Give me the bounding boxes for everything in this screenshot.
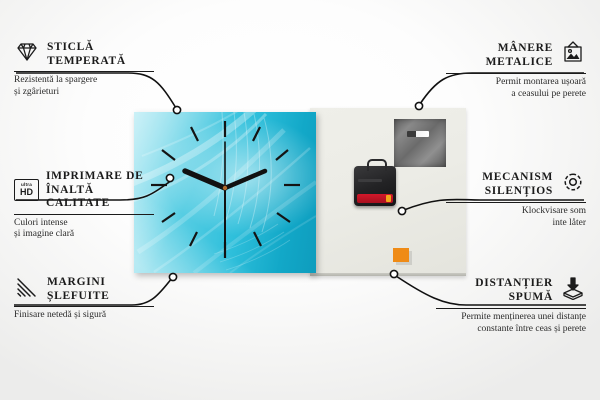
title-rule	[436, 308, 586, 309]
mechanism-loop	[367, 159, 387, 171]
feature-subtitle-line1: Klockvisare som	[522, 206, 586, 216]
feature-mecanism-silentios[interactable]: MECANISM SILENȚIOS Klockvisare som inte …	[446, 170, 586, 229]
feature-subtitle-line2: inte låter	[553, 218, 587, 228]
feature-manere-metalice[interactable]: MÂNERE METALICE Permit montarea ușoară a…	[446, 41, 586, 100]
feature-subtitle-line2: și zgârieturi	[14, 87, 59, 97]
feature-subtitle-line2: constante între ceas și perete	[477, 324, 586, 334]
feature-subtitle-line1: Permit montarea ușoară	[496, 77, 586, 87]
metal-hanger-plate	[394, 119, 446, 167]
feature-subtitle-line1: Finisare netedă și sigură	[14, 310, 106, 320]
wall-mount-frame-icon	[560, 41, 586, 70]
feature-subtitle-line1: Culori intense	[14, 218, 68, 228]
feature-title-line1: MECANISM	[482, 171, 553, 183]
product-photo	[134, 108, 466, 278]
feature-title-line2: METALICE	[486, 56, 553, 68]
mechanism-detail	[358, 179, 382, 182]
feature-title-line2: TEMPERATĂ	[47, 55, 126, 67]
clock-face	[134, 112, 316, 273]
feature-title-line2: ÎNALTĂ CALITATE	[46, 184, 110, 210]
feature-title-line2: SILENȚIOS	[485, 185, 553, 197]
clock-mechanism	[354, 166, 396, 206]
ultra-hd-icon: ultra HD	[14, 179, 39, 201]
title-rule	[14, 71, 154, 72]
gear-icon	[560, 170, 586, 199]
diamond-icon	[14, 41, 40, 68]
feature-title-line1: STICLĂ	[47, 41, 94, 53]
feature-subtitle-line2: și imagine clară	[14, 229, 74, 239]
hanger-slot	[407, 131, 429, 137]
polished-edge-icon	[14, 276, 40, 303]
press-down-layer-icon	[560, 276, 586, 305]
feature-title-line1: DISTANȚIER	[475, 277, 553, 289]
feature-distantier-spuma[interactable]: DISTANȚIER SPUMĂ Permite menținerea unei…	[436, 276, 586, 335]
infographic-canvas: STICLĂ TEMPERATĂ Rezistentă la spargere …	[0, 0, 600, 400]
feature-subtitle-line1: Permite menținerea unei distanțe	[461, 312, 586, 322]
feature-title-line1: IMPRIMARE DE	[46, 170, 144, 182]
feature-sticla-temperata[interactable]: STICLĂ TEMPERATĂ Rezistentă la spargere …	[14, 41, 154, 98]
feature-title-line1: MARGINI	[47, 276, 106, 288]
battery	[357, 194, 393, 203]
feature-title-line2: ȘLEFUITE	[47, 290, 109, 302]
feature-imprimare-hd[interactable]: ultra HD IMPRIMARE DE ÎNALTĂ CALITATE Cu…	[14, 170, 154, 241]
foam-spacer	[393, 248, 409, 262]
feature-title-line2: SPUMĂ	[509, 291, 553, 303]
feature-margini-slefuite[interactable]: MARGINI ȘLEFUITE Finisare netedă și sigu…	[14, 276, 154, 322]
title-rule	[14, 214, 154, 215]
title-rule	[14, 306, 154, 307]
feature-subtitle-line2: a ceasului pe perete	[511, 89, 586, 99]
clock-back-panel	[310, 108, 466, 276]
hd-icon-main-text: HD	[20, 188, 33, 197]
title-rule	[446, 202, 586, 203]
feature-subtitle-line1: Rezistentă la spargere	[14, 75, 97, 85]
feature-title-line1: MÂNERE	[498, 42, 553, 54]
title-rule	[446, 73, 586, 74]
